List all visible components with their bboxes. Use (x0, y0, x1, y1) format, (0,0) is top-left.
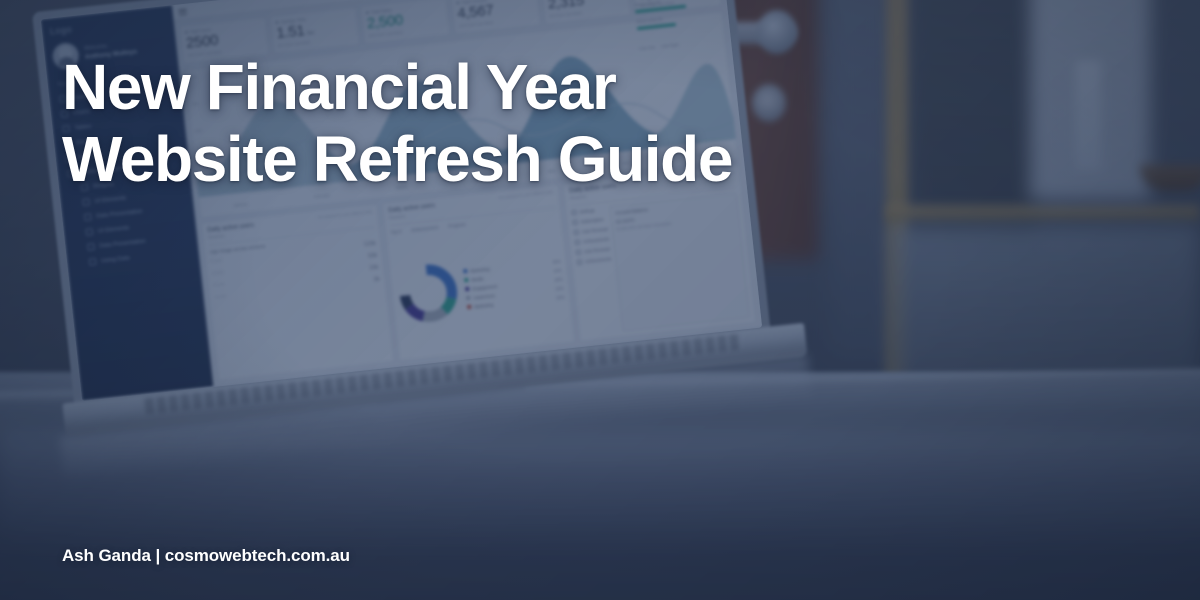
headline-line-2: Website Refresh Guide (62, 124, 942, 196)
headline-line-1: New Financial Year (62, 52, 942, 124)
banner-content: New Financial Year Website Refresh Guide… (0, 0, 1200, 600)
byline: Ash Ganda | cosmowebtech.com.au (62, 546, 1140, 566)
hero-banner: Logo Welcome, Anthony Mulloys Navigation… (0, 0, 1200, 600)
page-title: New Financial Year Website Refresh Guide (62, 52, 942, 195)
